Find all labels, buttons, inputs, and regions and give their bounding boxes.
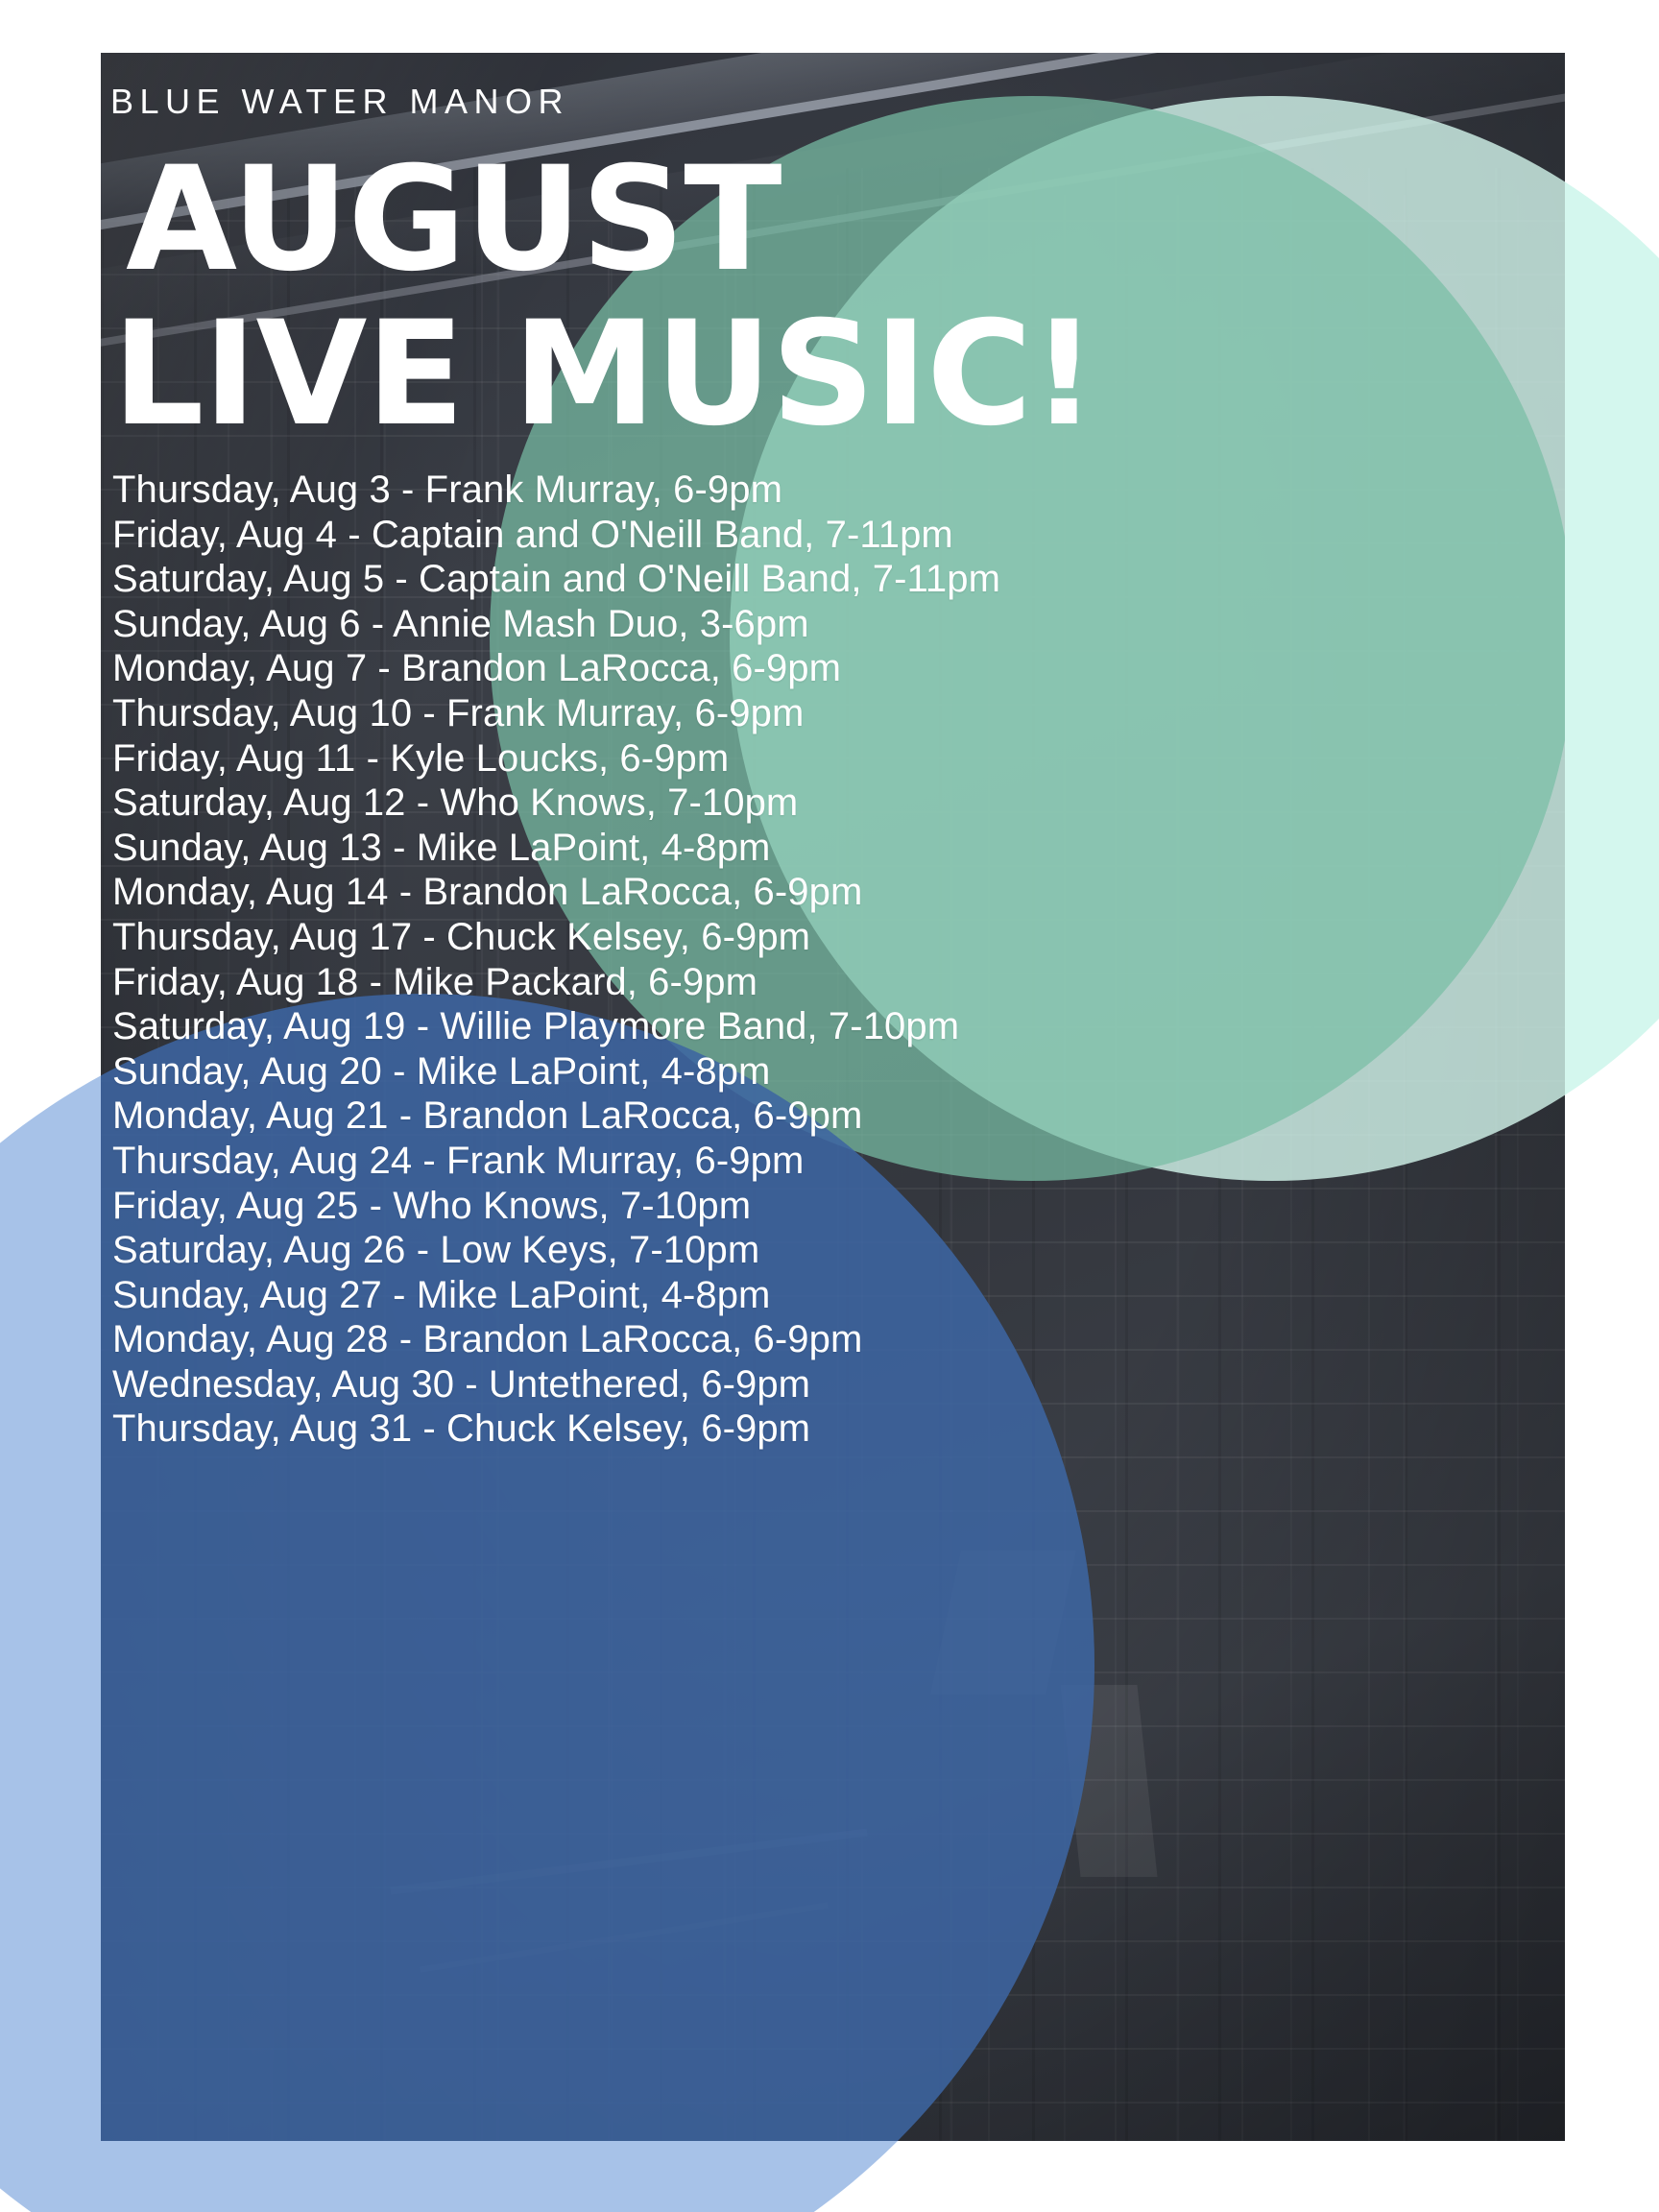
- schedule-row: Saturday, Aug 12 - Who Knows, 7-10pm: [112, 781, 1552, 826]
- schedule-row: Wednesday, Aug 30 - Untethered, 6-9pm: [112, 1362, 1552, 1407]
- schedule-row: Saturday, Aug 5 - Captain and O'Neill Ba…: [112, 557, 1552, 602]
- schedule-row: Saturday, Aug 26 - Low Keys, 7-10pm: [112, 1228, 1552, 1273]
- schedule-row: Sunday, Aug 13 - Mike LaPoint, 4-8pm: [112, 826, 1552, 871]
- photo-panel: BLUE WATER MANOR AUGUST LIVE MUSIC! Thur…: [101, 53, 1565, 2141]
- venue-name: BLUE WATER MANOR: [110, 82, 569, 122]
- headline-line-subject: LIVE MUSIC!: [112, 313, 1552, 437]
- schedule-row: Monday, Aug 28 - Brandon LaRocca, 6-9pm: [112, 1317, 1552, 1362]
- schedule-row: Saturday, Aug 19 - Willie Playmore Band,…: [112, 1004, 1552, 1049]
- schedule-row: Thursday, Aug 31 - Chuck Kelsey, 6-9pm: [112, 1407, 1552, 1452]
- schedule-row: Thursday, Aug 24 - Frank Murray, 6-9pm: [112, 1139, 1552, 1184]
- schedule-row: Friday, Aug 4 - Captain and O'Neill Band…: [112, 513, 1552, 558]
- schedule-row: Friday, Aug 11 - Kyle Loucks, 6-9pm: [112, 736, 1552, 781]
- page-title: AUGUST LIVE MUSIC!: [112, 158, 1552, 437]
- headline-line-month: AUGUST: [126, 158, 1552, 282]
- schedule-row: Sunday, Aug 6 - Annie Mash Duo, 3-6pm: [112, 602, 1552, 647]
- schedule-row: Monday, Aug 21 - Brandon LaRocca, 6-9pm: [112, 1094, 1552, 1139]
- poster-content: BLUE WATER MANOR AUGUST LIVE MUSIC! Thur…: [101, 53, 1565, 2141]
- schedule-row: Sunday, Aug 27 - Mike LaPoint, 4-8pm: [112, 1273, 1552, 1318]
- schedule-row: Sunday, Aug 20 - Mike LaPoint, 4-8pm: [112, 1049, 1552, 1094]
- schedule-list: Thursday, Aug 3 - Frank Murray, 6-9pmFri…: [112, 468, 1552, 1452]
- schedule-row: Friday, Aug 25 - Who Knows, 7-10pm: [112, 1184, 1552, 1229]
- schedule-row: Monday, Aug 14 - Brandon LaRocca, 6-9pm: [112, 870, 1552, 915]
- schedule-row: Thursday, Aug 17 - Chuck Kelsey, 6-9pm: [112, 915, 1552, 960]
- schedule-row: Thursday, Aug 10 - Frank Murray, 6-9pm: [112, 691, 1552, 736]
- schedule-row: Thursday, Aug 3 - Frank Murray, 6-9pm: [112, 468, 1552, 513]
- schedule-row: Monday, Aug 7 - Brandon LaRocca, 6-9pm: [112, 646, 1552, 691]
- poster-canvas: BLUE WATER MANOR AUGUST LIVE MUSIC! Thur…: [0, 0, 1659, 2212]
- schedule-row: Friday, Aug 18 - Mike Packard, 6-9pm: [112, 960, 1552, 1005]
